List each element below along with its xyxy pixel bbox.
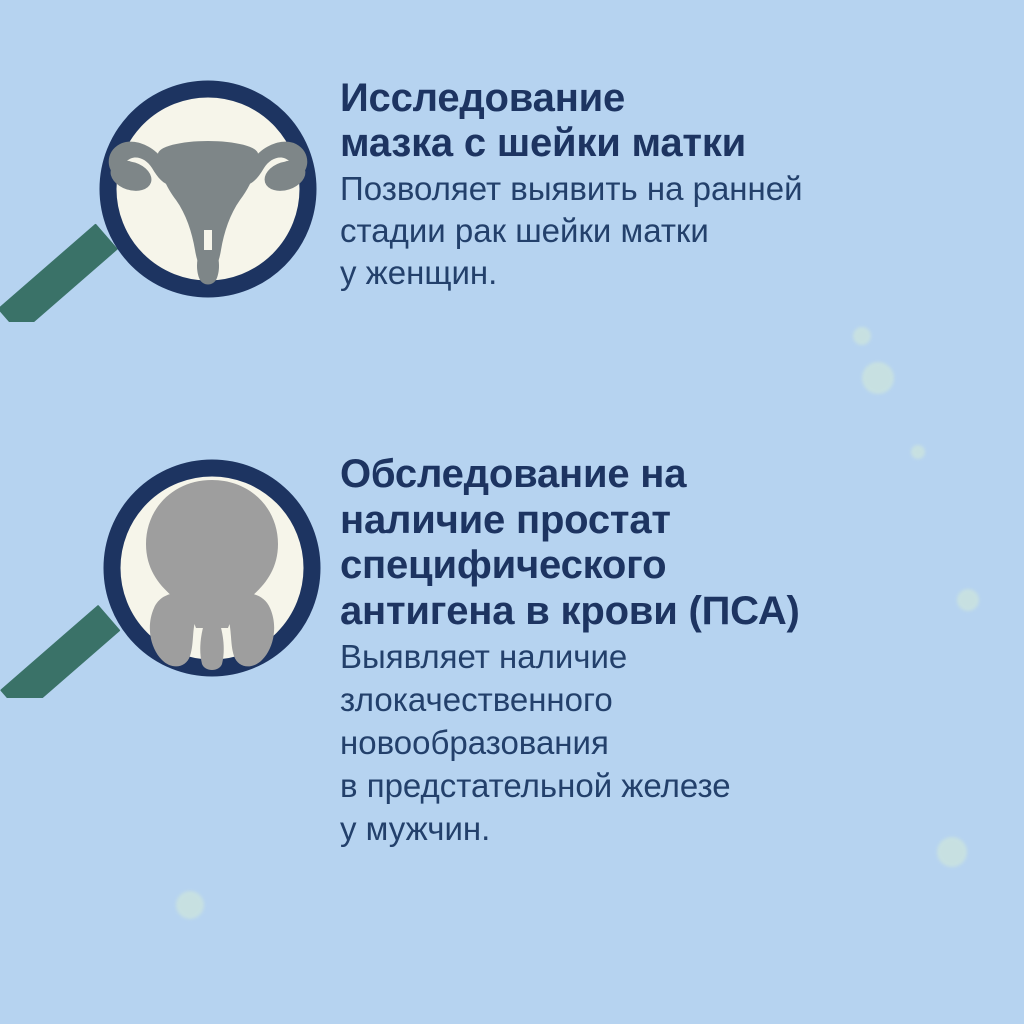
section-body: Позволяет выявить на ранней стадии рак ш…: [340, 168, 970, 295]
section-cervical-smear: Исследование мазка с шейки матки Позволя…: [0, 72, 970, 322]
decorative-dot: [176, 891, 204, 919]
decorative-dot: [862, 362, 894, 394]
prostate-illustration: [146, 480, 278, 670]
magnifier-uterus-icon: [0, 72, 340, 322]
text-column-cervical: Исследование мазка с шейки матки Позволя…: [340, 72, 970, 294]
magnifier-handle: [0, 223, 118, 322]
magnifier-prostate-icon: [0, 448, 340, 698]
icon-container-prostate: [0, 448, 340, 698]
decorative-dot: [853, 327, 871, 345]
section-heading: Исследование мазка с шейки матки: [340, 76, 970, 166]
section-heading: Обследование на наличие простат специфич…: [340, 452, 970, 634]
infographic-canvas: Исследование мазка с шейки матки Позволя…: [0, 0, 1024, 1024]
icon-container-cervical: [0, 72, 340, 322]
text-column-psa: Обследование на наличие простат специфич…: [340, 448, 970, 851]
magnifier-handle: [0, 605, 120, 698]
section-body: Выявляет наличие злокачественного новооб…: [340, 636, 970, 850]
section-psa-blood-test: Обследование на наличие простат специфич…: [0, 448, 970, 851]
